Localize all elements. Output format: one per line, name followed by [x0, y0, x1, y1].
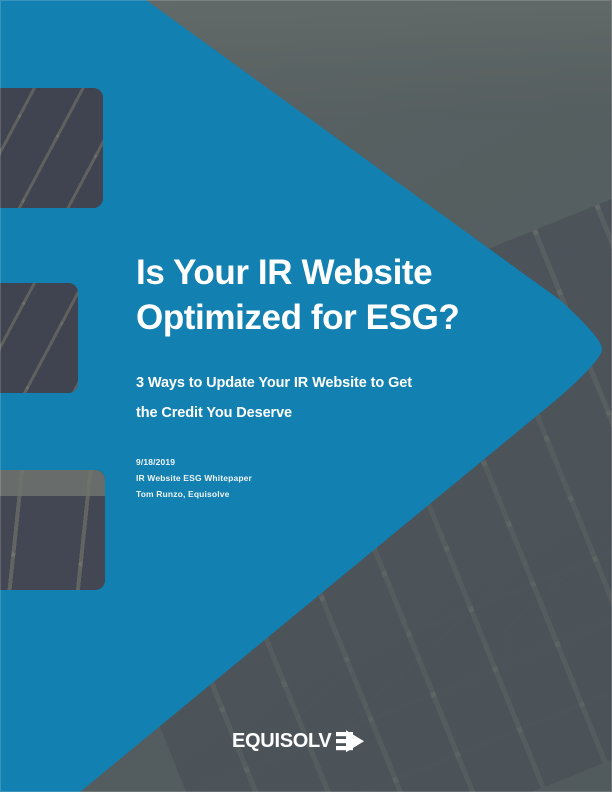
title-line-2: Optimized for ESG?	[136, 298, 459, 337]
subtitle-line-1: 3 Ways to Update Your IR Website to Get	[136, 375, 412, 391]
photo-window-middle-image	[0, 283, 78, 393]
equisolve-logo-icon: EQUISOLV	[232, 729, 382, 753]
metadata-author: Tom Runzo, Equisolve	[136, 486, 516, 502]
cover-text-block: Is Your IR Website Optimized for ESG? 3 …	[136, 250, 516, 502]
equisolve-logo: EQUISOLV	[232, 729, 382, 753]
photo-window-middle	[0, 283, 78, 393]
arrow-e-mark	[336, 730, 364, 752]
page-title: Is Your IR Website Optimized for ESG?	[136, 250, 516, 340]
photo-window-bottom-sky	[0, 470, 105, 496]
metadata-date: 9/18/2019	[136, 454, 516, 470]
subtitle-line-2: the Credit You Deserve	[136, 405, 292, 421]
photo-window-bottom	[0, 470, 105, 590]
page-subtitle: 3 Ways to Update Your IR Website to Get …	[136, 340, 516, 428]
equisolve-wordmark: EQUISOLV	[232, 730, 332, 752]
document-metadata: 9/18/2019 IR Website ESG Whitepaper Tom …	[136, 428, 516, 502]
metadata-document-type: IR Website ESG Whitepaper	[136, 470, 516, 486]
photo-window-top-image	[0, 88, 103, 208]
title-line-1: Is Your IR Website	[136, 253, 432, 292]
photo-window-top	[0, 88, 103, 208]
whitepaper-cover-page: Is Your IR Website Optimized for ESG? 3 …	[0, 0, 612, 792]
